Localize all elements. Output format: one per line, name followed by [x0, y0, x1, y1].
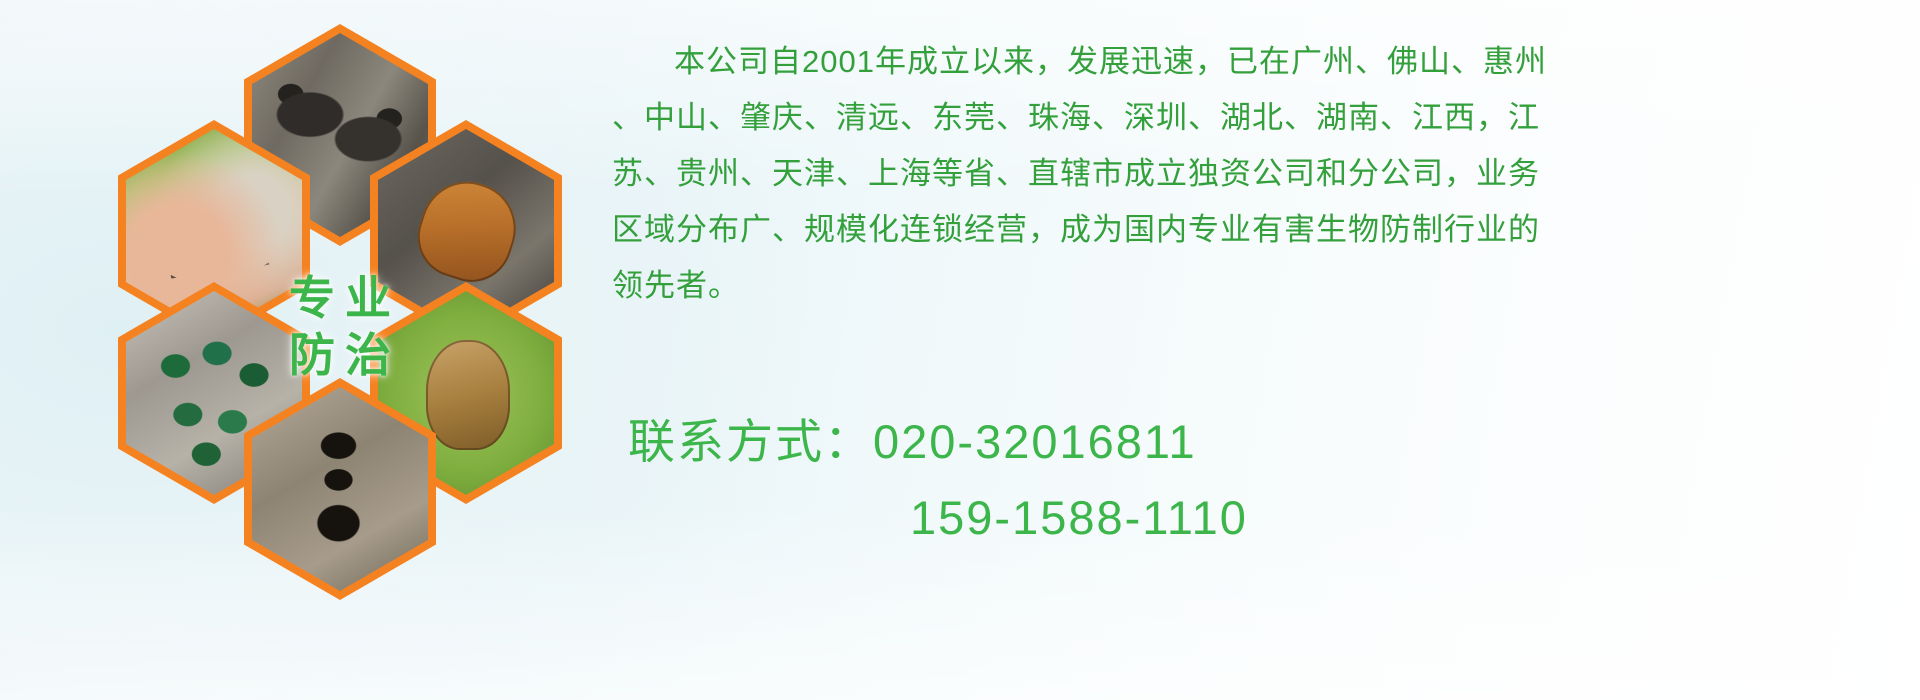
- logo-line-2: 防治: [279, 327, 401, 385]
- logo-line-1: 专业: [279, 270, 401, 328]
- company-description: 本公司自2001年成立以来，发展迅速，已在广州、佛山、惠州 、中山、肇庆、清远、…: [612, 34, 1902, 314]
- hexagon-image-cluster: 专业 防治: [80, 10, 600, 570]
- description-text: 本公司自2001年成立以来，发展迅速，已在广州、佛山、惠州: [674, 44, 1547, 79]
- description-line: 区域分布广、规模化连锁经营，成为国内专业有害生物防制行业的: [612, 202, 1902, 258]
- promo-banner: 专业 防治 本公司自2001年成立以来，发展迅速，已在广州、佛山、惠州 、中山、…: [0, 0, 1920, 700]
- description-line: 领先者。: [612, 258, 1902, 314]
- description-line: 苏、贵州、天津、上海等省、直辖市成立独资公司和分公司，业务: [612, 146, 1902, 202]
- contact-phone-landline[interactable]: 联系方式：020-32016811: [628, 404, 1908, 480]
- contact-block: 联系方式：020-32016811 159-1588-1110: [628, 404, 1908, 556]
- contact-phone-mobile[interactable]: 159-1588-1110: [628, 480, 1908, 556]
- description-line: 、中山、肇庆、清远、东莞、珠海、深圳、湖北、湖南、江西，江: [612, 90, 1902, 146]
- description-line: 本公司自2001年成立以来，发展迅速，已在广州、佛山、惠州: [612, 34, 1902, 90]
